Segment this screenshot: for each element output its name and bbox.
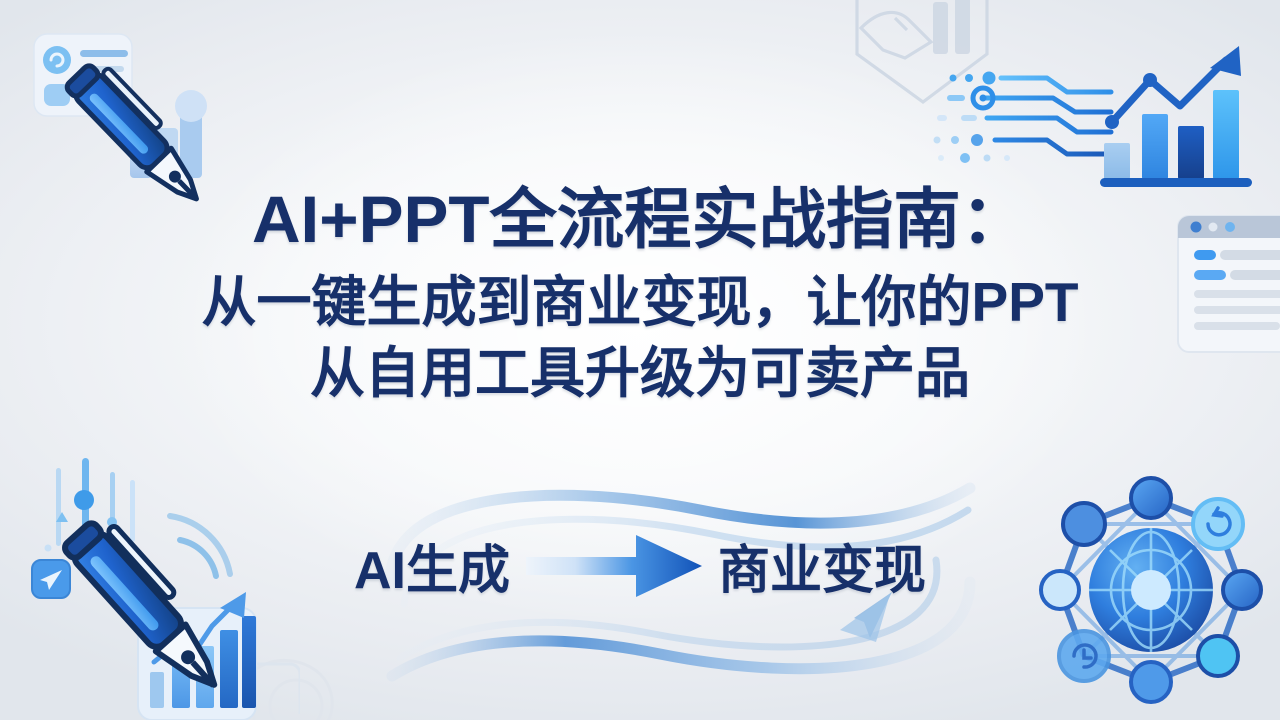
title-block: AI+PPT全流程实战指南： 从一键生成到商业变现，让你的PPT 从自用工具升级…	[0, 186, 1280, 406]
subtitle-line-1: 从一键生成到商业变现，让你的PPT	[0, 270, 1280, 335]
circuit-lines-icon	[925, 62, 1115, 172]
flow-to-label: 商业变现	[718, 528, 926, 603]
ghost-pen-chart-watermark	[835, 0, 1010, 120]
flow-from-label: AI生成	[354, 528, 510, 603]
ghost-shape-watermark	[200, 620, 400, 720]
page-title: AI+PPT全流程实战指南：	[0, 186, 1280, 252]
subtitle-line-2: 从自用工具升级为可卖产品	[0, 341, 1280, 406]
growth-bar-chart-icon	[1098, 38, 1270, 196]
flow-diagram: AI生成 商业变现	[0, 528, 1280, 603]
arrow-right-icon	[524, 533, 704, 599]
slide-canvas: AI+PPT全流程实战指南： 从一键生成到商业变现，让你的PPT 从自用工具升级…	[0, 0, 1280, 720]
